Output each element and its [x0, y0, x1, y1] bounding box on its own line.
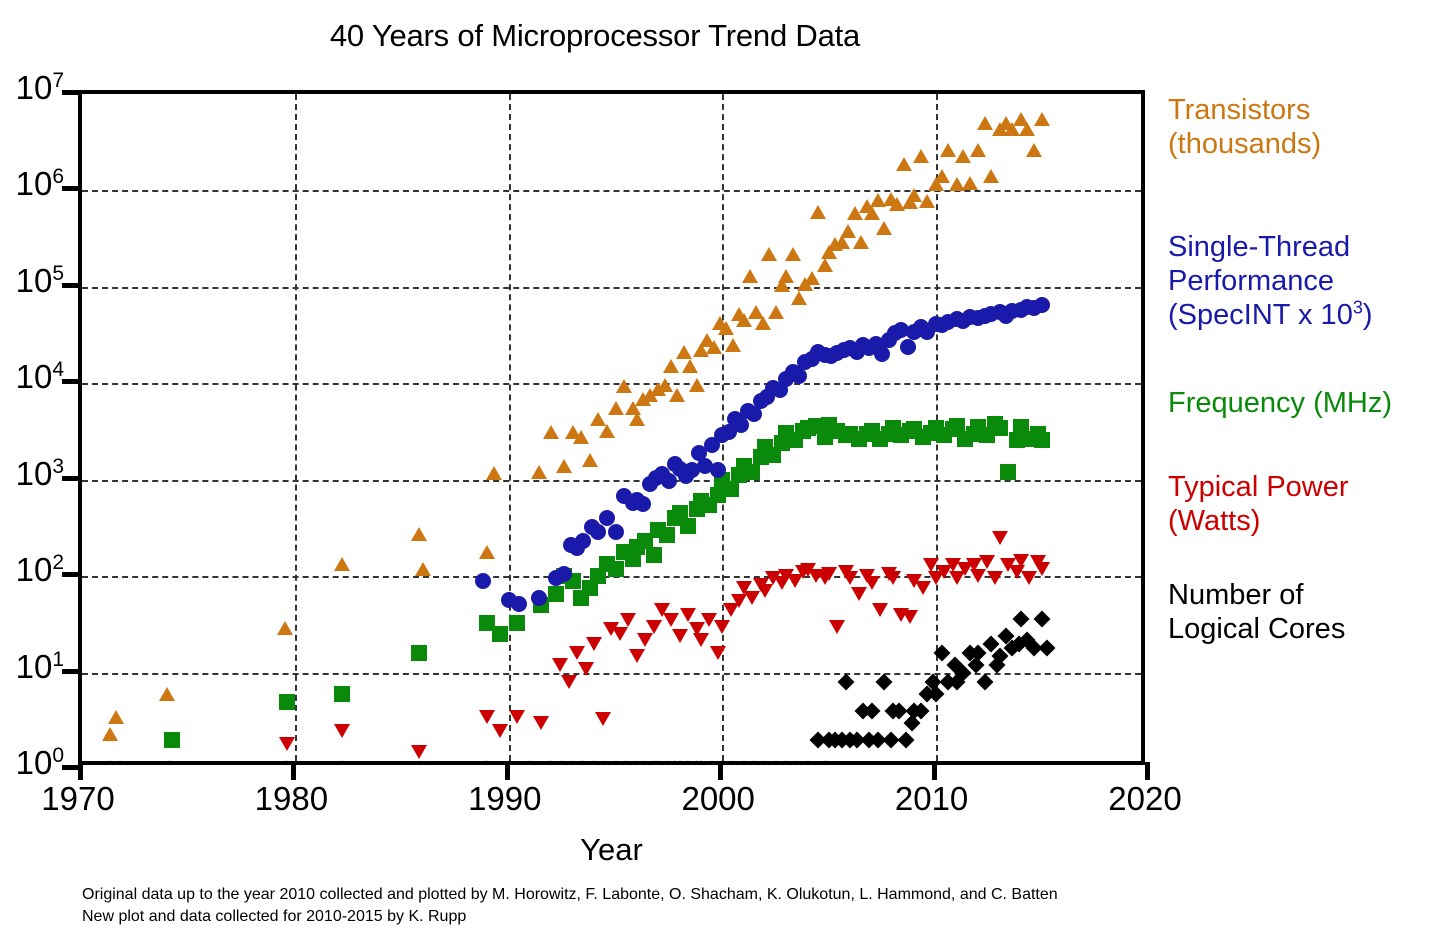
- data-point-marker: [164, 732, 180, 748]
- data-point-marker: [552, 658, 568, 672]
- legend-entry-line: (Watts): [1168, 504, 1349, 538]
- data-point-marker: [509, 710, 525, 724]
- data-point-marker: [680, 518, 696, 534]
- data-point-marker: [629, 412, 645, 426]
- data-point-marker: [710, 646, 726, 660]
- data-point-marker: [976, 673, 993, 690]
- data-point-marker: [785, 247, 801, 261]
- plot-area: [78, 90, 1145, 765]
- legend-entry-line: (thousands): [1168, 127, 1321, 161]
- data-point-marker: [864, 206, 880, 220]
- data-point-marker: [757, 584, 773, 598]
- legend-entry-4[interactable]: Typical Power(Watts): [1168, 470, 1349, 538]
- legend-entry-3[interactable]: Frequency (MHz): [1168, 386, 1392, 420]
- data-point-marker: [608, 524, 624, 540]
- legend-entry-2[interactable]: Single-ThreadPerformance(SpecINT x 103): [1168, 230, 1373, 332]
- data-point-marker: [876, 221, 892, 235]
- data-point-marker: [1034, 610, 1051, 627]
- data-point-marker: [669, 388, 685, 402]
- y-tick-label: 104: [16, 360, 64, 393]
- x-axis-title: Year: [78, 832, 1145, 868]
- data-point-marker: [582, 453, 598, 467]
- data-point-marker: [706, 340, 722, 354]
- data-point-marker: [556, 459, 572, 473]
- data-point-marker: [479, 545, 495, 559]
- data-point-marker: [1038, 639, 1055, 656]
- data-point-marker: [874, 346, 890, 362]
- legend-entry-line: Performance: [1168, 264, 1373, 298]
- data-point-marker: [970, 143, 986, 157]
- data-point-marker: [992, 531, 1008, 545]
- data-point-marker: [733, 417, 749, 433]
- data-point-marker: [578, 662, 594, 676]
- data-point-marker: [663, 613, 679, 627]
- data-point-marker: [902, 610, 918, 624]
- data-point-marker: [646, 620, 662, 634]
- data-point-marker: [411, 645, 427, 661]
- data-point-marker: [853, 235, 869, 249]
- data-point-marker: [334, 686, 350, 702]
- data-point-marker: [599, 424, 615, 438]
- data-point-marker: [646, 547, 662, 563]
- data-point-marker: [415, 562, 431, 576]
- data-point-marker: [608, 401, 624, 415]
- data-point-marker: [791, 291, 807, 305]
- data-point-marker: [744, 464, 760, 480]
- data-point-marker: [573, 430, 589, 444]
- data-point-marker: [842, 571, 858, 585]
- data-point-marker: [486, 466, 502, 480]
- data-point-marker: [637, 633, 653, 647]
- data-point-marker: [509, 615, 525, 631]
- y-tick-label: 106: [16, 167, 64, 200]
- footer-line-1: Original data up to the year 2010 collec…: [82, 884, 1058, 906]
- data-point-marker: [159, 687, 175, 701]
- data-point-marker: [533, 716, 549, 730]
- data-point-marker: [804, 271, 820, 285]
- data-point-marker: [411, 745, 427, 759]
- legend-entry-line: Number of: [1168, 578, 1345, 612]
- data-point-marker: [778, 269, 794, 283]
- gridline-horizontal: [82, 480, 1141, 482]
- legend-entry-line: Single-Thread: [1168, 230, 1373, 264]
- data-point-marker: [977, 116, 993, 130]
- data-point-marker: [1034, 112, 1050, 126]
- data-point-marker: [548, 586, 564, 602]
- data-point-marker: [1019, 122, 1035, 136]
- data-point-marker: [992, 420, 1008, 436]
- data-point-marker: [962, 176, 978, 190]
- legend-entry-line: Frequency (MHz): [1168, 386, 1392, 420]
- data-point-marker: [1012, 610, 1029, 627]
- data-point-marker: [277, 621, 293, 635]
- data-point-marker: [635, 496, 651, 512]
- x-tick-label: 2000: [638, 780, 798, 818]
- data-point-marker: [979, 555, 995, 569]
- y-tick-label: 100: [16, 746, 64, 779]
- data-point-marker: [934, 169, 950, 183]
- x-tick-label: 2020: [1065, 780, 1225, 818]
- data-point-marker: [768, 305, 784, 319]
- legend-entry-line: Typical Power: [1168, 470, 1349, 504]
- y-tick-label: 103: [16, 457, 64, 490]
- data-point-marker: [864, 576, 880, 590]
- data-point-marker: [1013, 554, 1029, 568]
- data-point-marker: [475, 573, 491, 589]
- x-tick-label: 2010: [852, 780, 1012, 818]
- data-point-marker: [680, 608, 696, 622]
- data-point-marker: [279, 737, 295, 751]
- chart-canvas: 40 Years of Microprocessor Trend Data 10…: [0, 0, 1438, 940]
- legend-entry-1[interactable]: Transistors(thousands): [1168, 93, 1321, 161]
- data-point-marker: [919, 194, 935, 208]
- data-point-marker: [900, 339, 916, 355]
- data-point-marker: [885, 571, 901, 585]
- data-point-marker: [682, 359, 698, 373]
- data-point-marker: [479, 710, 495, 724]
- data-point-marker: [569, 646, 585, 660]
- y-tick-label: 105: [16, 264, 64, 297]
- data-point-marker: [689, 378, 705, 392]
- data-point-marker: [725, 338, 741, 352]
- data-point-marker: [586, 637, 602, 651]
- data-point-marker: [108, 710, 124, 724]
- data-point-marker: [492, 626, 508, 642]
- x-tick-label: 1990: [425, 780, 585, 818]
- x-tick-label: 1980: [211, 780, 371, 818]
- data-point-marker: [821, 567, 837, 581]
- gridline-vertical: [509, 94, 511, 761]
- data-point-marker: [876, 673, 893, 690]
- data-point-marker: [940, 143, 956, 157]
- data-point-marker: [672, 629, 688, 643]
- data-point-marker: [590, 524, 606, 540]
- data-point-marker: [334, 557, 350, 571]
- legend-entry-line: (SpecINT x 103): [1168, 298, 1373, 332]
- data-point-marker: [693, 633, 709, 647]
- data-point-marker: [629, 649, 645, 663]
- data-point-marker: [411, 527, 427, 541]
- data-point-marker: [718, 321, 734, 335]
- chart-title: 40 Years of Microprocessor Trend Data: [0, 18, 1190, 54]
- data-point-marker: [970, 569, 986, 583]
- data-point-marker: [1034, 432, 1050, 448]
- data-point-marker: [742, 269, 758, 283]
- data-point-marker: [595, 712, 611, 726]
- data-point-marker: [955, 149, 971, 163]
- data-point-marker: [561, 675, 577, 689]
- data-point-marker: [897, 731, 914, 748]
- data-point-marker: [1026, 143, 1042, 157]
- footer-line-2: New plot and data collected for 2010-201…: [82, 906, 1058, 928]
- data-point-marker: [723, 481, 739, 497]
- footer-credits: Original data up to the year 2010 collec…: [82, 884, 1058, 928]
- gridline-horizontal: [82, 673, 1141, 675]
- data-point-marker: [511, 596, 527, 612]
- data-point-marker: [1000, 464, 1016, 480]
- data-point-marker: [983, 169, 999, 183]
- data-point-marker: [810, 205, 826, 219]
- gridline-vertical: [295, 94, 297, 761]
- gridline-horizontal: [82, 190, 1141, 192]
- data-point-marker: [608, 561, 624, 577]
- data-point-marker: [531, 590, 547, 606]
- data-point-marker: [531, 465, 547, 479]
- data-point-marker: [676, 345, 692, 359]
- data-point-marker: [612, 627, 628, 641]
- y-tick-label: 102: [16, 553, 64, 586]
- data-point-marker: [817, 258, 833, 272]
- data-point-marker: [575, 533, 591, 549]
- data-point-marker: [1034, 297, 1050, 313]
- data-point-marker: [791, 368, 807, 384]
- data-point-marker: [616, 379, 632, 393]
- gridline-horizontal: [82, 383, 1141, 385]
- legend-entry-5[interactable]: Number ofLogical Cores: [1168, 578, 1345, 646]
- data-point-marker: [492, 724, 508, 738]
- data-point-marker: [714, 620, 730, 634]
- data-point-marker: [896, 157, 912, 171]
- data-point-marker: [102, 727, 118, 741]
- data-point-marker: [663, 359, 679, 373]
- data-point-marker: [279, 694, 295, 710]
- data-point-marker: [913, 149, 929, 163]
- data-point-marker: [659, 527, 675, 543]
- data-point-marker: [829, 620, 845, 634]
- data-point-marker: [334, 724, 350, 738]
- x-tick-label: 1970: [0, 780, 158, 818]
- legend-entry-line: Logical Cores: [1168, 612, 1345, 646]
- data-point-marker: [761, 247, 777, 261]
- data-point-marker: [1034, 562, 1050, 576]
- plot-inner: [82, 94, 1141, 761]
- x-tick-mark: [1145, 762, 1150, 780]
- y-tick-label: 107: [16, 71, 64, 104]
- data-point-marker: [620, 613, 636, 627]
- y-tick-label: 101: [16, 650, 64, 683]
- data-point-marker: [543, 425, 559, 439]
- data-point-marker: [872, 603, 888, 617]
- gridline-horizontal: [82, 287, 1141, 289]
- data-point-marker: [837, 673, 854, 690]
- data-point-marker: [987, 571, 1003, 585]
- legend-entry-line: Transistors: [1168, 93, 1321, 127]
